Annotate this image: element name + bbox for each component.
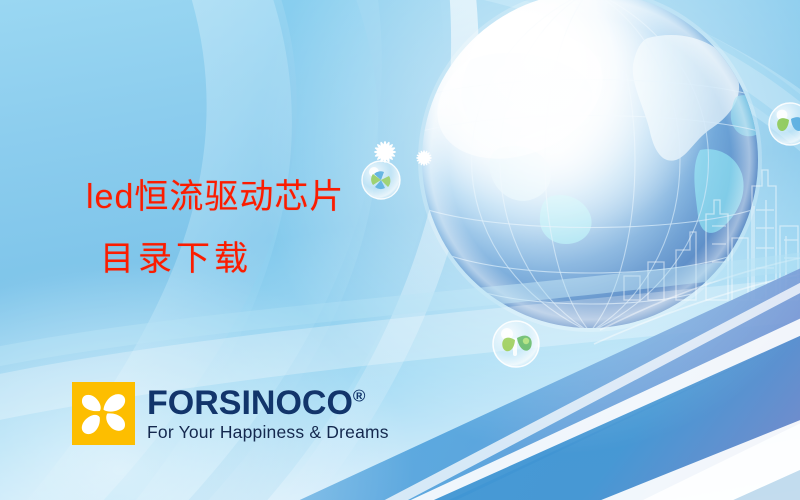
globe-specular-highlight <box>419 10 622 182</box>
sparkle-star <box>374 141 396 163</box>
company-logo: FORSINOCO® For Your Happiness & Dreams <box>72 382 389 445</box>
continent-australia <box>540 195 592 244</box>
continent-north-america <box>633 35 739 161</box>
logo-pinwheel-icon <box>72 382 135 445</box>
continent-islands <box>731 95 766 136</box>
headline-line-1: led恒流驱动芯片 <box>86 178 344 216</box>
logo-company-name: FORSINOCO® <box>147 386 389 420</box>
skyline-light-trails <box>594 258 800 344</box>
headline-line-2: 目录下载 <box>86 228 526 290</box>
logo-mark-background <box>72 382 135 445</box>
city-skyline-silhouette <box>624 170 798 300</box>
bubble-leaf <box>769 103 800 145</box>
promo-banner: led恒流驱动芯片 目录下载 FORSINOCO® For Your Happi… <box>0 0 800 500</box>
sparkle-group <box>374 141 432 166</box>
logo-tagline: For Your Happiness & Dreams <box>147 424 389 442</box>
logo-name-text: FORSINOCO <box>147 384 353 422</box>
registered-trademark-icon: ® <box>353 386 366 405</box>
bubble-leaf <box>493 321 539 367</box>
continent-south-america <box>694 149 743 233</box>
sparkle-star <box>416 150 432 166</box>
logo-wordmark: FORSINOCO® For Your Happiness & Dreams <box>147 386 389 442</box>
ribbon-arc-top-1 <box>300 0 800 190</box>
continent-asia <box>461 53 592 147</box>
page-title: led恒流驱动芯片 目录下载 <box>86 166 526 290</box>
